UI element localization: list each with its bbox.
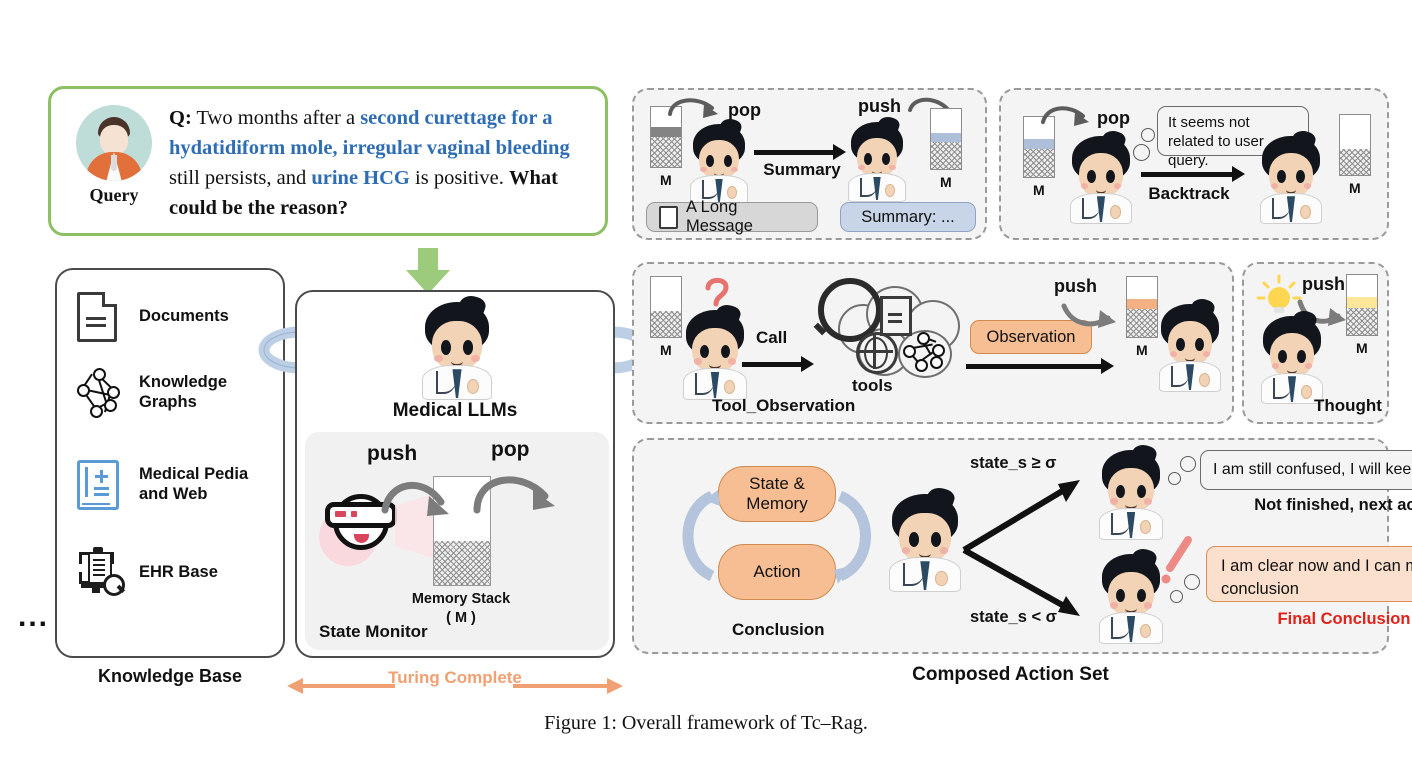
memory-stack-title: Memory Stack bbox=[412, 591, 510, 607]
m-label: M bbox=[940, 174, 952, 190]
cycle-arrow-left-icon bbox=[672, 474, 724, 598]
not-finished-bubble[interactable]: I am still confused, I will keep on bbox=[1200, 450, 1412, 490]
pop-arrow-icon bbox=[465, 462, 569, 524]
call-label: Call bbox=[756, 328, 787, 348]
kb-item-documents[interactable]: Documents bbox=[69, 288, 229, 344]
figure-caption: Figure 1: Overall framework of Tc–Rag. bbox=[0, 712, 1412, 735]
memory-stack-after bbox=[1126, 276, 1158, 338]
memory-stack-before bbox=[650, 276, 682, 338]
query-text-part2: still persists, and bbox=[169, 167, 311, 189]
doctor-avatar-center bbox=[886, 494, 964, 590]
summary-action-label: Summary bbox=[754, 160, 850, 180]
pop-label: pop bbox=[728, 100, 761, 121]
summary-panel: M pop Summary push M A Long Message Summ… bbox=[632, 88, 987, 240]
backtrack-transition-arrow bbox=[1141, 172, 1235, 177]
push-label: push bbox=[858, 96, 901, 117]
memory-stack-after bbox=[930, 108, 962, 170]
doctor-avatar bbox=[1258, 316, 1326, 402]
state-monitor-pop-label: pop bbox=[491, 438, 529, 462]
final-conclusion-bubble-text: I am clear now and I can make a conclusi… bbox=[1221, 557, 1412, 598]
kb-item-knowledge-graphs[interactable]: Knowledge Graphs bbox=[69, 364, 249, 420]
document-icon bbox=[69, 288, 125, 344]
doctor-avatar bbox=[846, 122, 908, 200]
m-label: M bbox=[1356, 340, 1368, 356]
query-label: Query bbox=[65, 185, 163, 206]
pop-arrow-icon bbox=[666, 92, 728, 126]
kb-item-label: Documents bbox=[139, 306, 229, 326]
figure-caption-suffix: . bbox=[863, 712, 868, 734]
figure-caption-name: Tc–Rag bbox=[801, 712, 863, 734]
ehr-monitor-icon bbox=[69, 544, 125, 600]
node-action[interactable]: Action bbox=[718, 544, 836, 600]
memory-stack-symbol: ( M ) bbox=[446, 610, 476, 626]
query-q-prefix: Q: bbox=[169, 107, 192, 129]
not-finished-caption: Not finished, next action bbox=[1200, 496, 1412, 515]
tool-observation-panel: M Call bbox=[632, 262, 1234, 424]
thought-dot bbox=[1141, 128, 1155, 142]
m-label: M bbox=[660, 342, 672, 358]
query-box: Query Q: Two months after a second curet… bbox=[48, 86, 608, 236]
kb-item-label: EHR Base bbox=[139, 562, 218, 582]
query-text-part1: Two months after a bbox=[192, 107, 360, 129]
long-message-box[interactable]: A Long Message bbox=[646, 202, 818, 232]
conclusion-title: Conclusion bbox=[732, 620, 825, 640]
doctor-avatar bbox=[1067, 136, 1135, 222]
push-arrow-icon bbox=[1060, 298, 1124, 334]
pop-label: pop bbox=[1097, 108, 1130, 129]
figure-caption-prefix: Figure 1: Overall framework of bbox=[544, 712, 801, 734]
user-avatar bbox=[76, 105, 152, 181]
node-state-memory-label: State & Memory bbox=[731, 474, 823, 514]
m-label: M bbox=[660, 172, 672, 188]
medical-book-icon bbox=[69, 456, 125, 512]
medical-llm-label: Medical LLMs bbox=[297, 400, 613, 422]
kb-item-ehr-base[interactable]: EHR Base bbox=[69, 544, 218, 600]
memory-stack bbox=[1346, 274, 1378, 336]
medical-llm-avatar bbox=[419, 302, 495, 398]
branch-arrows bbox=[960, 466, 1090, 628]
agent-panel: Medical LLMs push pop Memory Stack ( M )… bbox=[295, 290, 615, 658]
thought-dot bbox=[1180, 456, 1196, 472]
query-highlight-2: urine HCG bbox=[311, 167, 410, 189]
knowledge-graph-icon bbox=[902, 332, 942, 370]
thought-dot bbox=[1168, 472, 1181, 485]
query-text: Q: Two months after a second curettage f… bbox=[169, 103, 591, 223]
query-text-part3: is positive. bbox=[410, 167, 509, 189]
observation-arrow bbox=[966, 364, 1104, 369]
node-state-memory[interactable]: State & Memory bbox=[718, 466, 836, 522]
globe-icon bbox=[856, 332, 898, 374]
state-monitor-label: State Monitor bbox=[319, 622, 428, 642]
kb-item-label: Knowledge Graphs bbox=[139, 372, 249, 412]
push-label: push bbox=[1302, 274, 1345, 295]
push-arrow-icon bbox=[379, 466, 463, 526]
backtrack-panel: M pop It seems not related to user query… bbox=[999, 88, 1389, 240]
m-label: M bbox=[1033, 182, 1045, 198]
conclusion-panel: State & Memory Action state_s ≥ σ state_… bbox=[632, 438, 1389, 654]
tool-observation-title: Tool_Observation bbox=[712, 396, 855, 416]
final-conclusion-bubble[interactable]: I am clear now and I can make a conclusi… bbox=[1206, 546, 1412, 602]
pop-arrow-icon bbox=[1039, 102, 1097, 134]
query-avatar-group: Query bbox=[65, 105, 163, 206]
memory-stack-after bbox=[1339, 114, 1371, 176]
state-monitor-panel: push pop Memory Stack ( M ) State Monito… bbox=[305, 432, 609, 650]
long-message-label: A Long Message bbox=[686, 198, 805, 236]
doctor-avatar bbox=[1156, 304, 1224, 390]
document-icon bbox=[659, 206, 678, 229]
thought-dot bbox=[1133, 144, 1150, 161]
knowledge-base-ellipsis: ... bbox=[18, 612, 49, 622]
push-label: push bbox=[1054, 276, 1097, 297]
doctor-avatar bbox=[1257, 136, 1325, 222]
doctor-avatar-not-finished bbox=[1096, 450, 1166, 538]
call-arrow bbox=[742, 362, 804, 367]
branch-low-label: state_s < σ bbox=[970, 608, 1057, 627]
green-down-arrow-icon bbox=[406, 248, 450, 294]
summary-transition-arrow bbox=[754, 150, 836, 155]
knowledge-base-caption: Knowledge Base bbox=[60, 666, 280, 687]
tools-cloud-icon bbox=[814, 278, 974, 378]
composed-action-set-caption: Composed Action Set bbox=[632, 664, 1389, 686]
document-icon bbox=[880, 296, 912, 336]
turing-complete-label: Turing Complete bbox=[285, 668, 625, 688]
kb-item-medical-pedia[interactable]: Medical Pedia and Web bbox=[69, 456, 265, 512]
summary-message-label: Summary: ... bbox=[861, 208, 955, 227]
doctor-avatar-final bbox=[1096, 554, 1166, 642]
knowledge-graph-icon bbox=[69, 364, 125, 420]
state-monitor-push-label: push bbox=[367, 442, 417, 466]
kb-item-label: Medical Pedia and Web bbox=[139, 464, 265, 504]
node-action-label: Action bbox=[753, 562, 800, 582]
doctor-avatar bbox=[688, 124, 750, 202]
turing-complete-group: Turing Complete bbox=[285, 668, 625, 698]
branch-high-label: state_s ≥ σ bbox=[970, 454, 1056, 473]
thought-title: Thought bbox=[1314, 396, 1382, 416]
doctor-avatar bbox=[680, 310, 750, 398]
backtrack-thought-text: It seems not related to user query. bbox=[1168, 114, 1264, 169]
thought-panel: push M Thought bbox=[1242, 262, 1389, 424]
summary-message-box[interactable]: Summary: ... bbox=[840, 202, 976, 232]
thought-dot bbox=[1184, 574, 1200, 590]
cycle-arrow-right-icon bbox=[828, 474, 884, 598]
m-label: M bbox=[1349, 180, 1361, 196]
backtrack-action-label: Backtrack bbox=[1137, 184, 1241, 204]
final-conclusion-caption: Final Conclusion bbox=[1206, 610, 1412, 629]
thought-dot bbox=[1170, 590, 1183, 603]
tools-label: tools bbox=[852, 376, 893, 396]
m-label: M bbox=[1136, 342, 1148, 358]
not-finished-bubble-text: I am still confused, I will keep on bbox=[1213, 461, 1412, 479]
